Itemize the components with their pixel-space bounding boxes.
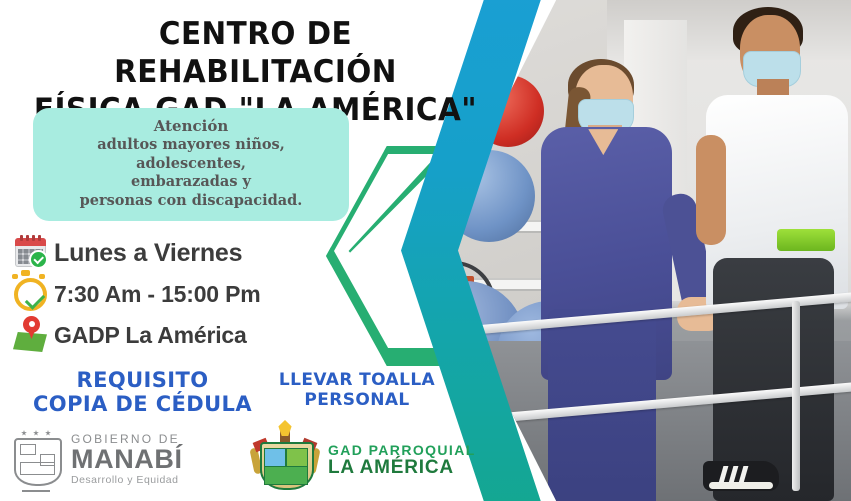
requirement-line-1: REQUISITO [30, 368, 255, 392]
towel-note: LLEVAR TOALLA PERSONAL [262, 370, 452, 411]
schedule-info-list: Lunes a Viernes 7:30 Am - 15:00 Pm GADP … [8, 234, 338, 357]
notice-line-3: adolescentes, [41, 155, 341, 174]
towel-line-2: PERSONAL [262, 390, 452, 410]
calendar-check-icon [8, 234, 54, 272]
patient-figure [699, 15, 851, 501]
manabi-line-3: Desarrollo y Equidad [71, 475, 183, 486]
map-pin-icon [8, 316, 54, 354]
notice-line-2: adultos mayores niños, [41, 136, 341, 155]
gad-crest-icon [252, 426, 318, 496]
towel-line-1: LLEVAR TOALLA [262, 370, 452, 390]
info-row-location: GADP La América [8, 316, 338, 354]
gad-line-2: LA AMÉRICA [328, 458, 476, 479]
info-text-days: Lunes a Viernes [54, 239, 242, 268]
logo-gad-parroquial: GAD PARROQUIAL LA AMÉRICA [252, 426, 476, 496]
stopwatch-check-icon [8, 275, 54, 313]
notice-line-1: Atención [41, 117, 341, 136]
manabi-shield-icon [10, 428, 62, 490]
requirement-line-2: COPIA DE CÉDULA [30, 392, 255, 416]
info-row-days: Lunes a Viernes [8, 234, 338, 272]
manabi-line-1: GOBIERNO DE [71, 433, 183, 445]
manabi-line-2: MANABÍ [71, 446, 183, 473]
notice-line-5: personas con discapacidad. [41, 192, 341, 211]
info-row-hours: 7:30 Am - 15:00 Pm [8, 275, 338, 313]
requirement-note: REQUISITO COPIA DE CÉDULA [30, 368, 255, 417]
poster-canvas: CENTRO DE REHABILITACIÓN FÍSICA GAD "LA … [0, 0, 851, 501]
info-text-location: GADP La América [54, 322, 247, 349]
therapist-figure [531, 65, 699, 501]
notice-line-4: embarazadas y [41, 173, 341, 192]
info-text-hours: 7:30 Am - 15:00 Pm [54, 281, 260, 308]
audience-notice-box: Atención adultos mayores niños, adolesce… [33, 108, 349, 221]
logo-gobierno-manabi: GOBIERNO DE MANABÍ Desarrollo y Equidad [10, 428, 183, 490]
title-line-1: CENTRO DE REHABILITACIÓN [18, 16, 493, 92]
